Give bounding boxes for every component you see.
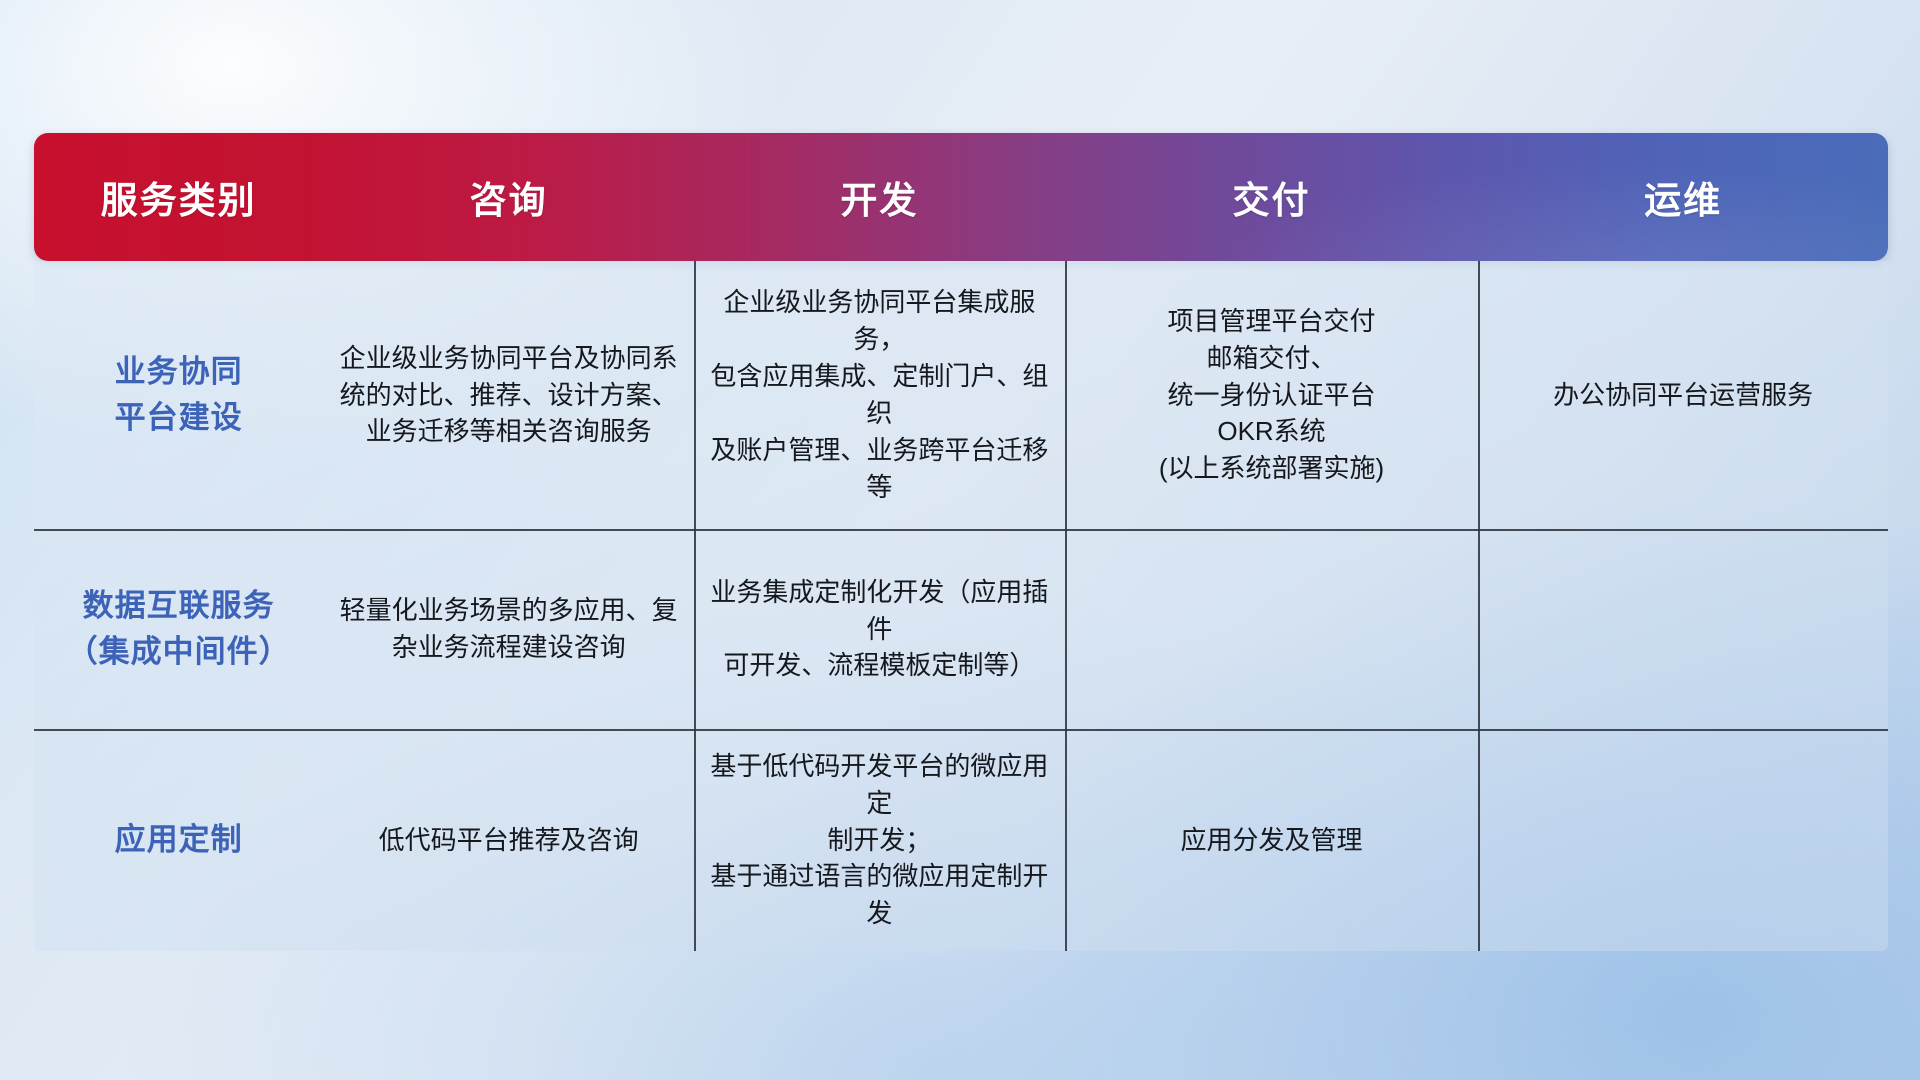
table-row: 数据互联服务 （集成中间件） 轻量化业务场景的多应用、复 杂业务流程建设咨询 业… xyxy=(34,529,1888,729)
cell-delivery-row2 xyxy=(1065,529,1478,729)
row-label-data-integration: 数据互联服务 （集成中间件） xyxy=(34,529,323,729)
header-service-category: 服务类别 xyxy=(34,133,323,261)
cell-consulting-row1: 企业级业务协同平台及协同系 统的对比、推荐、设计方案、 业务迁移等相关咨询服务 xyxy=(323,261,694,529)
table-row: 应用定制 低代码平台推荐及咨询 基于低代码开发平台的微应用定 制开发； 基于通过… xyxy=(34,729,1888,951)
cell-operations-row3 xyxy=(1478,729,1888,951)
header-delivery: 交付 xyxy=(1065,133,1478,261)
cell-delivery-row1: 项目管理平台交付 邮箱交付、 统一身份认证平台 OKR系统 (以上系统部署实施) xyxy=(1065,261,1478,529)
cell-development-row3: 基于低代码开发平台的微应用定 制开发； 基于通过语言的微应用定制开发 xyxy=(694,729,1065,951)
cell-development-row2: 业务集成定制化开发（应用插件 可开发、流程模板定制等） xyxy=(694,529,1065,729)
cell-delivery-row3: 应用分发及管理 xyxy=(1065,729,1478,951)
cell-development-row1: 企业级业务协同平台集成服务， 包含应用集成、定制门户、组织 及账户管理、业务跨平… xyxy=(694,261,1065,529)
cell-consulting-row2: 轻量化业务场景的多应用、复 杂业务流程建设咨询 xyxy=(323,529,694,729)
slide-canvas: 服务类别 咨询 开发 交付 运维 业务协同 平台建设 企业级业务协同平台及协同系… xyxy=(0,0,1920,1080)
table-body: 业务协同 平台建设 企业级业务协同平台及协同系 统的对比、推荐、设计方案、 业务… xyxy=(34,261,1888,951)
row-label-app-customization: 应用定制 xyxy=(34,729,323,951)
table-header-row: 服务类别 咨询 开发 交付 运维 xyxy=(34,133,1888,261)
cell-consulting-row3: 低代码平台推荐及咨询 xyxy=(323,729,694,951)
row-label-business-collaboration: 业务协同 平台建设 xyxy=(34,261,323,529)
header-development: 开发 xyxy=(694,133,1065,261)
table-row: 业务协同 平台建设 企业级业务协同平台及协同系 统的对比、推荐、设计方案、 业务… xyxy=(34,261,1888,529)
header-operations: 运维 xyxy=(1478,133,1888,261)
cell-operations-row2 xyxy=(1478,529,1888,729)
service-matrix-table: 服务类别 咨询 开发 交付 运维 业务协同 平台建设 企业级业务协同平台及协同系… xyxy=(34,133,1888,951)
cell-operations-row1: 办公协同平台运营服务 xyxy=(1478,261,1888,529)
header-consulting: 咨询 xyxy=(323,133,694,261)
